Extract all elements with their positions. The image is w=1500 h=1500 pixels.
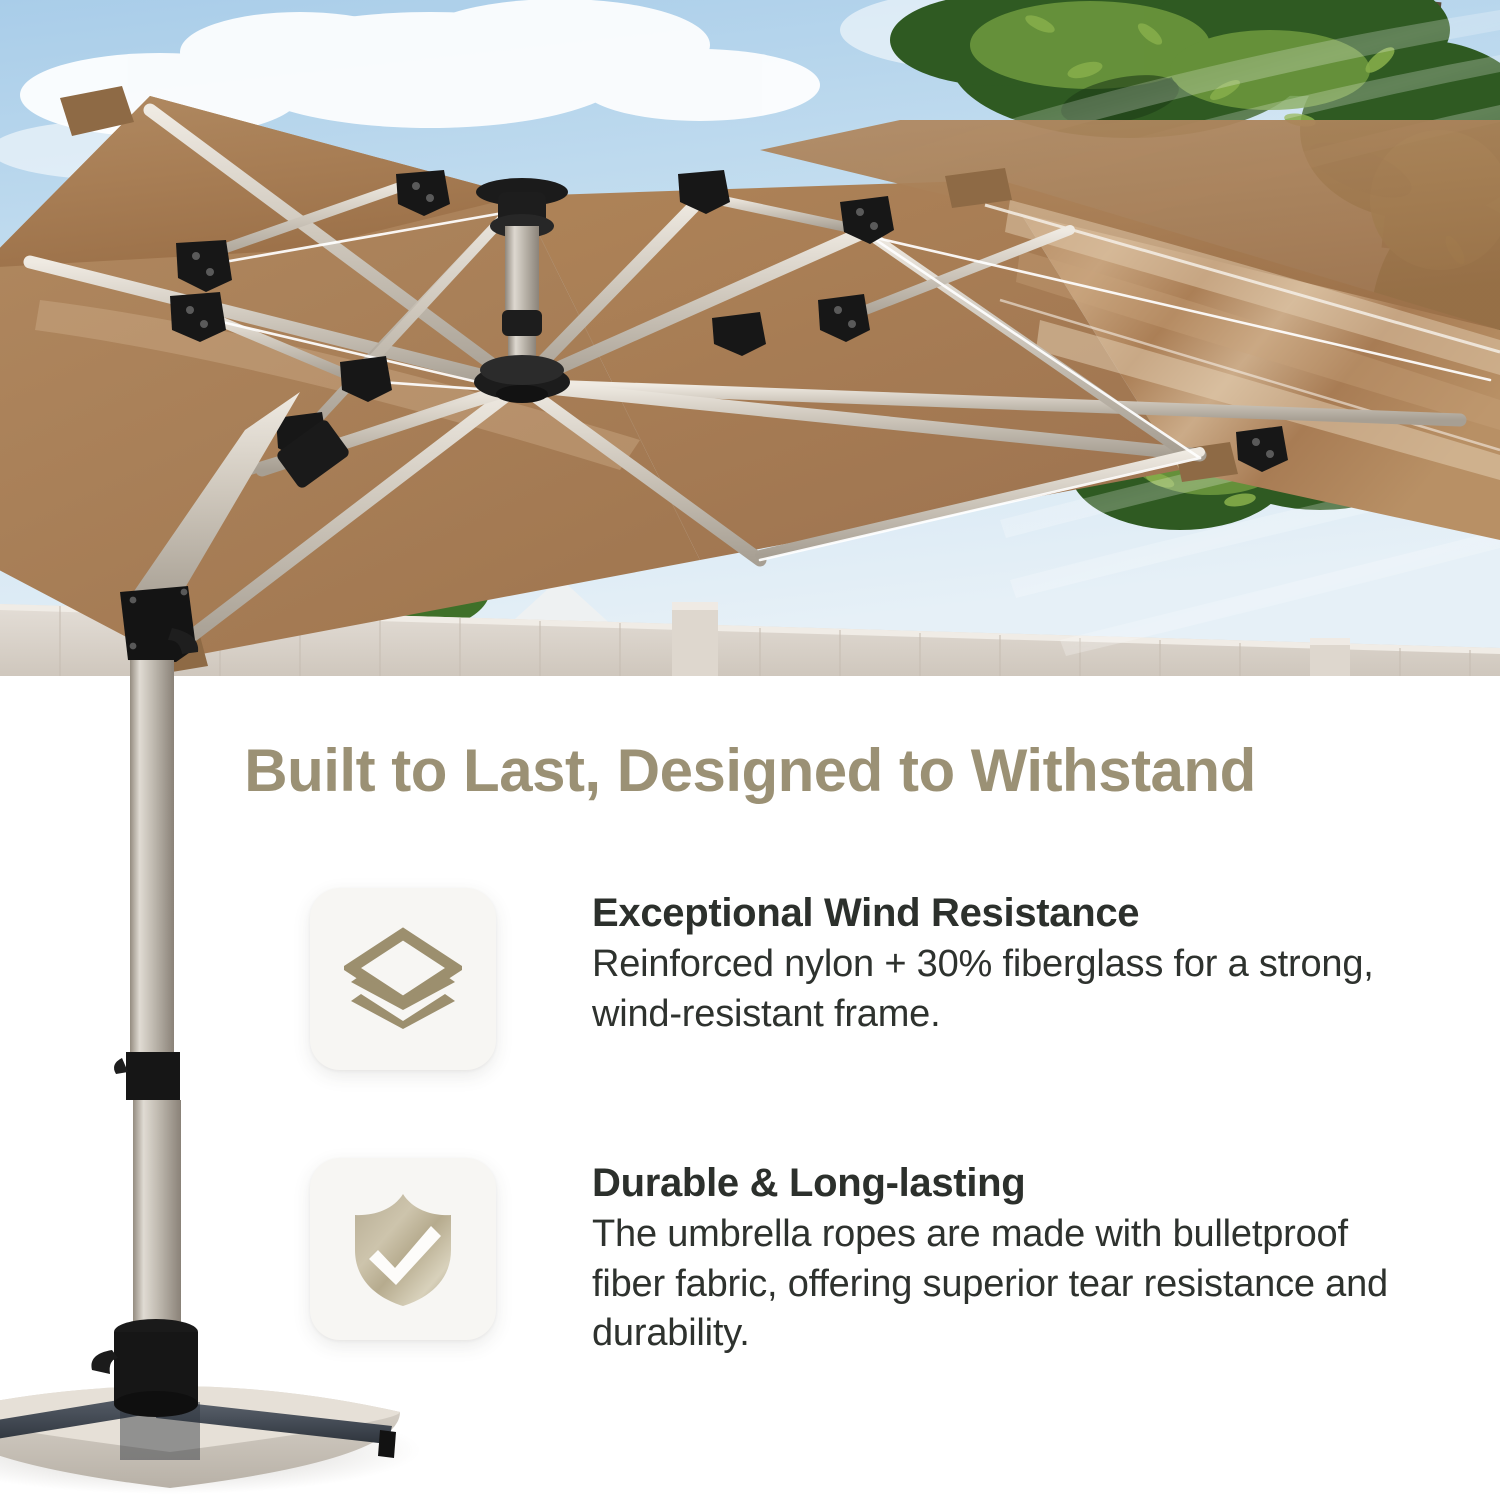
hero-product-photo — [0, 0, 1500, 676]
page-title: Built to Last, Designed to Withstand — [0, 736, 1500, 805]
feature-item-durability: Durable & Long-lasting The umbrella rope… — [310, 1158, 1430, 1359]
feature-list: Exceptional Wind Resistance Reinforced n… — [310, 888, 1430, 1359]
feature-title: Durable & Long-lasting — [592, 1162, 1430, 1204]
feature-icon-card — [310, 1158, 496, 1340]
hero-illustration — [0, 0, 1500, 676]
feature-icon-card — [310, 888, 496, 1070]
feature-item-wind-resistance: Exceptional Wind Resistance Reinforced n… — [310, 888, 1430, 1070]
feature-text-block: Exceptional Wind Resistance Reinforced n… — [592, 888, 1430, 1039]
feature-title: Exceptional Wind Resistance — [592, 892, 1430, 934]
layers-icon — [344, 925, 462, 1033]
feature-description: Reinforced nylon + 30% fiberglass for a … — [592, 940, 1430, 1039]
feature-description: The umbrella ropes are made with bulletp… — [592, 1210, 1430, 1358]
shield-check-icon — [347, 1190, 459, 1308]
feature-text-block: Durable & Long-lasting The umbrella rope… — [592, 1158, 1430, 1359]
